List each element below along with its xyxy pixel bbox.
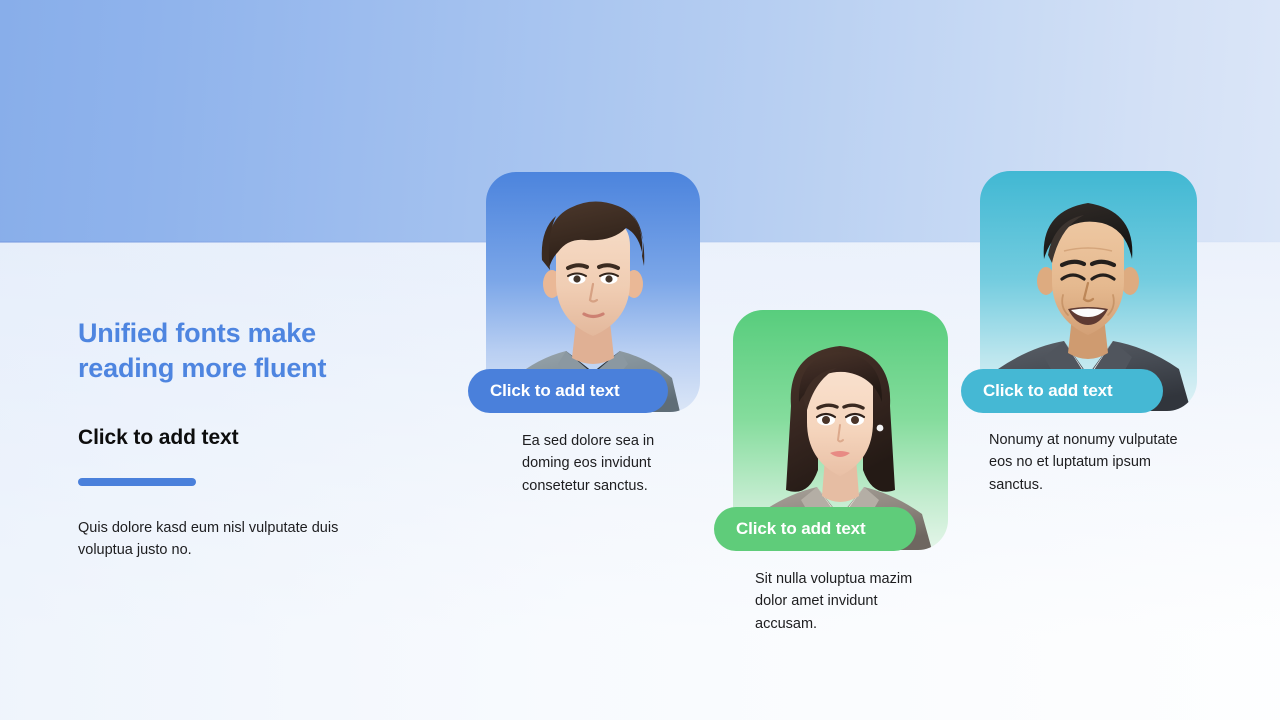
- accent-divider-bar: [78, 478, 196, 486]
- card-2-cta-label: Click to add text: [736, 519, 866, 539]
- card-3-cta-label: Click to add text: [983, 381, 1113, 401]
- card-1-caption: Ea sed dolore sea in doming eos invidunt…: [522, 430, 682, 497]
- page-title: Unified fonts make reading more fluent: [78, 316, 418, 386]
- subheading-placeholder[interactable]: Click to add text: [78, 386, 418, 450]
- card-1-cta-label: Click to add text: [490, 381, 620, 401]
- card-2-cta-button[interactable]: Click to add text: [714, 507, 916, 551]
- slide-canvas: Unified fonts make reading more fluent C…: [0, 0, 1280, 720]
- body-paragraph: Quis dolore kasd eum nisl vulputate duis…: [78, 486, 378, 561]
- profile-card-2[interactable]: Click to add text Sit nulla voluptua maz…: [733, 310, 948, 550]
- left-text-column: Unified fonts make reading more fluent C…: [78, 316, 418, 561]
- card-3-caption: Nonumy at nonumy vulputate eos no et lup…: [989, 429, 1199, 496]
- profile-card-1[interactable]: Click to add text Ea sed dolore sea in d…: [486, 172, 700, 412]
- profile-card-3[interactable]: Click to add text Nonumy at nonumy vulpu…: [980, 171, 1197, 411]
- card-1-cta-button[interactable]: Click to add text: [468, 369, 668, 413]
- card-2-caption: Sit nulla voluptua mazim dolor amet invi…: [755, 568, 937, 635]
- card-3-cta-button[interactable]: Click to add text: [961, 369, 1163, 413]
